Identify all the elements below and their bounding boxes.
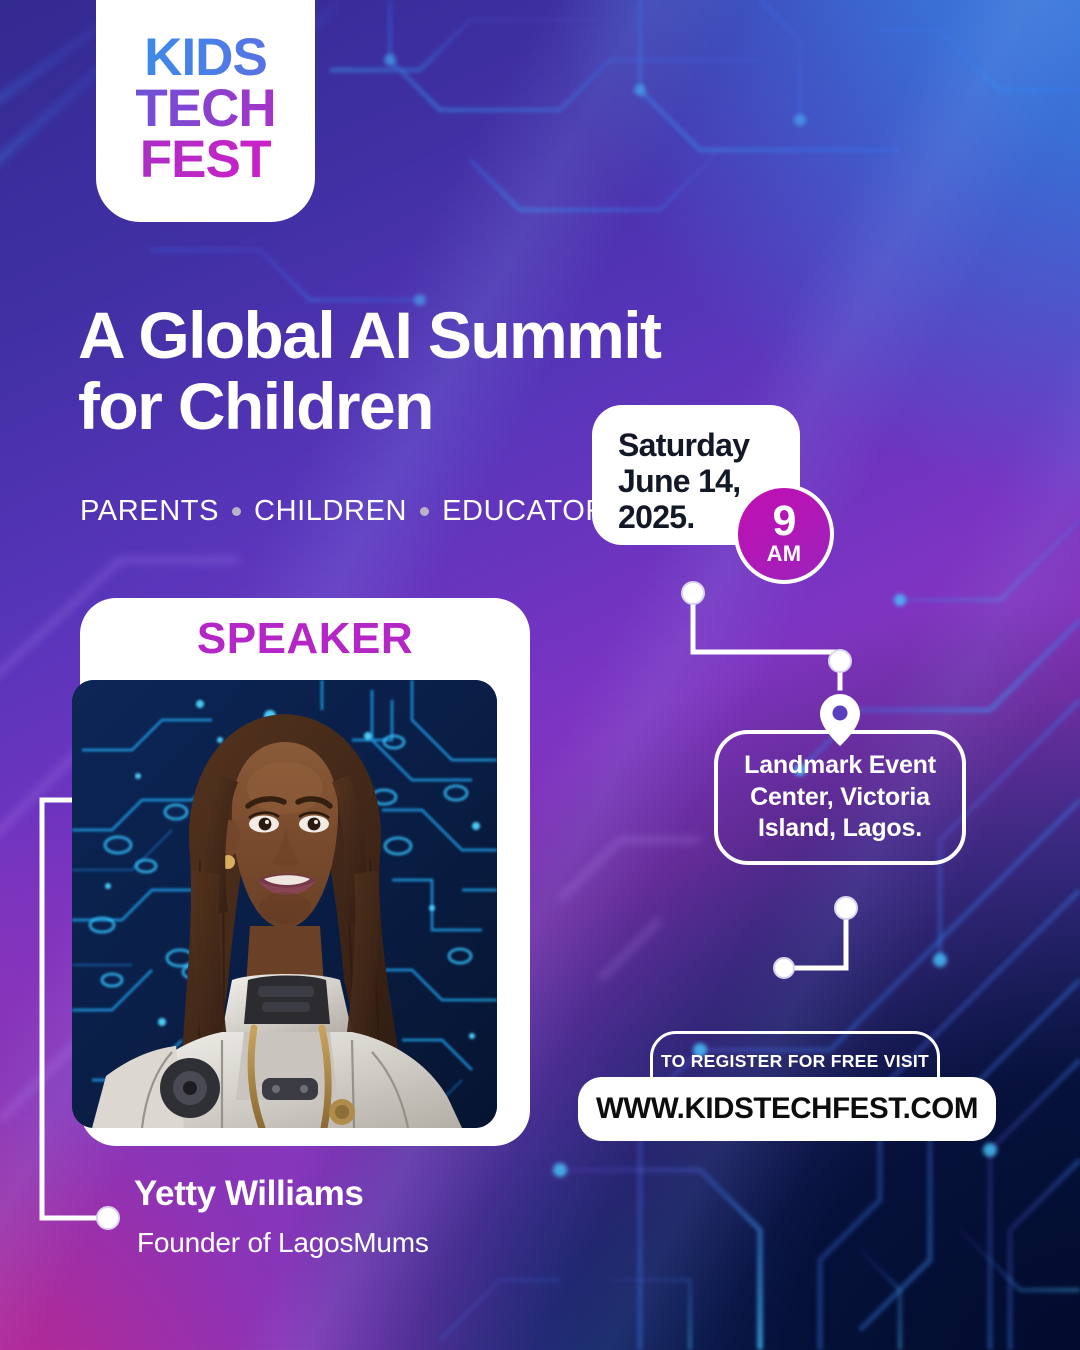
event-time-meridiem: AM bbox=[767, 543, 802, 565]
bullet-separator-icon bbox=[232, 507, 241, 516]
event-time-badge: 9 AM bbox=[734, 484, 834, 584]
speaker-name: Yetty Williams bbox=[134, 1174, 363, 1214]
brand-logo-card: KIDS TECH FEST bbox=[96, 0, 315, 222]
logo-line-fest: FEST bbox=[140, 135, 271, 186]
venue-line-3: Island, Lagos. bbox=[744, 813, 936, 845]
venue-line-2: Center, Victoria bbox=[744, 782, 936, 814]
audience-list: PARENTS CHILDREN EDUCATORS bbox=[80, 495, 627, 528]
speaker-role: Founder of LagosMums bbox=[137, 1227, 429, 1259]
event-venue-badge: Landmark Event Center, Victoria Island, … bbox=[714, 730, 966, 865]
event-venue-text: Landmark Event Center, Victoria Island, … bbox=[744, 750, 936, 845]
register-url-text: WWW.KIDSTECHFEST.COM bbox=[596, 1092, 978, 1126]
event-date-line-1: Saturday bbox=[618, 427, 800, 463]
logo-line-tech: TECH bbox=[135, 84, 275, 135]
event-poster: KIDS TECH FEST A Global AI Summit for Ch… bbox=[0, 0, 1080, 1350]
speaker-photo bbox=[72, 680, 497, 1128]
logo-line-kids: KIDS bbox=[144, 33, 267, 84]
audience-item-parents: PARENTS bbox=[80, 495, 219, 528]
audience-item-children: CHILDREN bbox=[254, 495, 407, 528]
venue-line-1: Landmark Event bbox=[744, 750, 936, 782]
bullet-separator-icon bbox=[420, 507, 429, 516]
register-prompt-text: TO REGISTER FOR FREE VISIT bbox=[661, 1051, 929, 1072]
register-url-button[interactable]: WWW.KIDSTECHFEST.COM bbox=[578, 1077, 996, 1141]
headline-line-1: A Global AI Summit bbox=[78, 300, 878, 371]
event-time-hour: 9 bbox=[773, 503, 796, 541]
speaker-label: SPEAKER bbox=[80, 614, 530, 664]
